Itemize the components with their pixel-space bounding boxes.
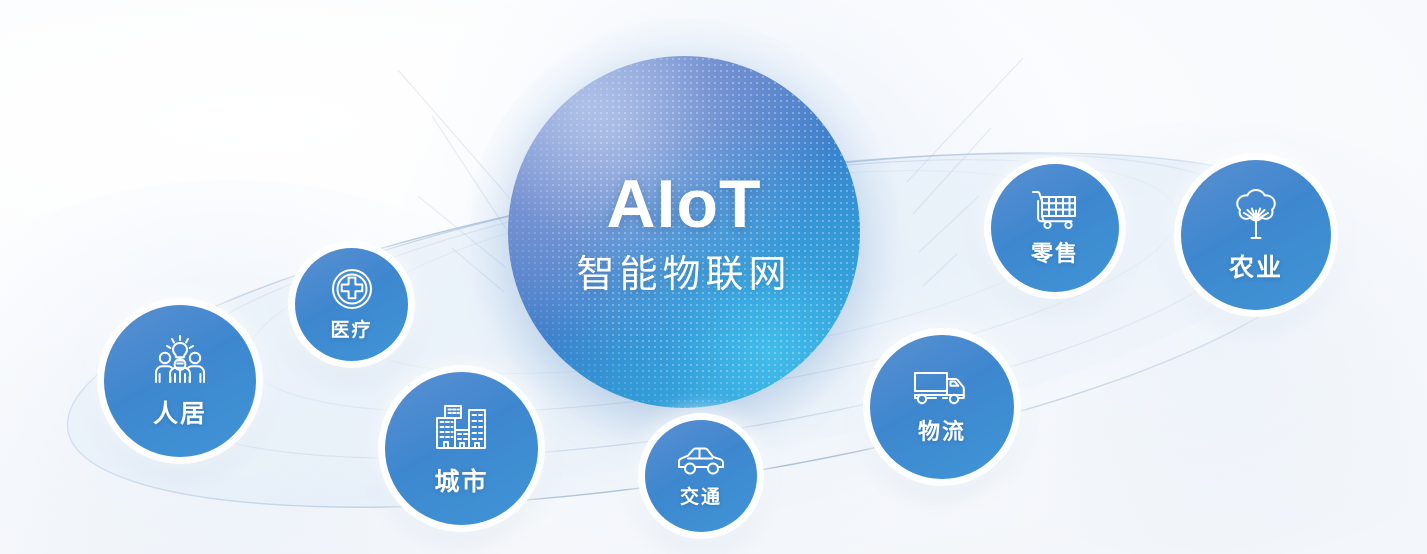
- sector-label-yiliao: 医疗: [330, 315, 372, 342]
- sector-label-lingshou: 零售: [1031, 236, 1079, 268]
- sector-node-renju[interactable]: 人居: [104, 305, 256, 457]
- sector-node-jiaotong[interactable]: 交通: [645, 420, 757, 532]
- buildings-icon: [431, 400, 493, 456]
- medical-cross-icon: [330, 267, 374, 311]
- aiot-ecosystem-graphic: AIoT 智能物联网 人居: [0, 0, 1427, 554]
- people-idea-icon: [148, 332, 212, 388]
- sector-node-wuliu[interactable]: 物流: [870, 335, 1014, 479]
- sector-label-renju: 人居: [153, 394, 207, 430]
- sector-label-nongye: 农业: [1229, 248, 1283, 284]
- sector-node-nongye[interactable]: 农业: [1181, 160, 1331, 310]
- sector-label-chengshi: 城市: [434, 462, 488, 498]
- aiot-center-node[interactable]: AIoT 智能物联网: [508, 56, 860, 408]
- globe-text-block: AIoT 智能物联网: [508, 56, 860, 408]
- shopping-cart-icon: [1029, 189, 1081, 231]
- aiot-title: AIoT: [606, 170, 761, 238]
- tree-icon: [1226, 186, 1286, 242]
- sector-node-yiliao[interactable]: 医疗: [295, 248, 408, 361]
- sector-node-chengshi[interactable]: 城市: [385, 372, 538, 525]
- sector-label-jiaotong: 交通: [680, 482, 722, 509]
- sector-node-lingshou[interactable]: 零售: [991, 164, 1119, 292]
- aiot-subtitle: 智能物联网: [576, 256, 791, 294]
- truck-icon: [912, 369, 972, 409]
- car-icon: [675, 444, 727, 478]
- background-haze-right: [900, 120, 1427, 554]
- sector-label-wuliu: 物流: [918, 414, 966, 446]
